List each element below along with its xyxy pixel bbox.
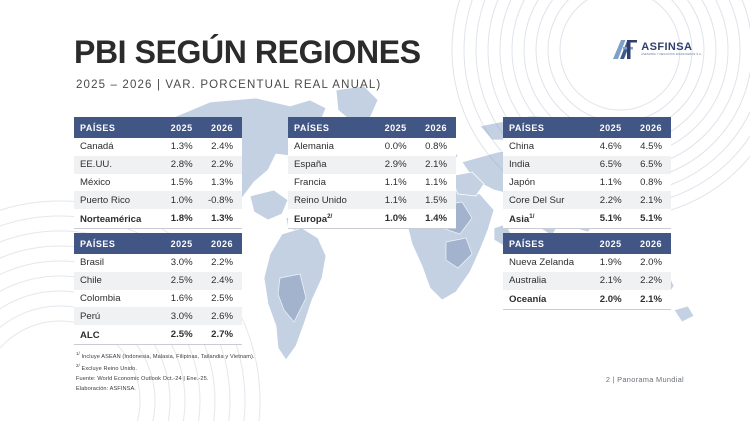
cell-2026: 2.1% bbox=[631, 191, 671, 209]
table-total-row: Asia1/ 5.1% 5.1% bbox=[503, 209, 671, 228]
page-title: PBI SEGÚN REGIONES bbox=[74, 34, 421, 71]
slide-canvas: PBI SEGÚN REGIONES 2025 – 2026 | VAR. PO… bbox=[0, 0, 750, 421]
footnote-source: Fuente: World Economic Outlook Oct.-24 |… bbox=[76, 375, 255, 385]
cell-2025: 1.1% bbox=[590, 174, 630, 192]
asfinsa-logo: ASFINSA ASESORÍA Y NEGOCIOS FINANCIEROS … bbox=[612, 38, 702, 61]
cell-2025: 2.8% bbox=[161, 156, 201, 174]
cell-country: Reino Unido bbox=[288, 191, 375, 209]
cell-country: Puerto Rico bbox=[74, 191, 161, 209]
cell-total-2025: 1.8% bbox=[161, 209, 201, 228]
cell-2025: 1.5% bbox=[161, 174, 201, 192]
cell-country: Colombia bbox=[74, 290, 161, 308]
cell-2025: 2.9% bbox=[375, 156, 415, 174]
footnotes: 1/ Incluye ASEAN (Indonesia, Malasia, Fi… bbox=[76, 350, 255, 394]
region-total-note: 1/ bbox=[529, 213, 534, 220]
cell-total-2026: 2.1% bbox=[631, 290, 671, 309]
table-row: Canadá 1.3% 2.4% bbox=[74, 138, 242, 156]
asfinsa-logo-name: ASFINSA bbox=[641, 42, 702, 53]
table-row: Alemania 0.0% 0.8% bbox=[288, 138, 456, 156]
cell-2026: 2.0% bbox=[631, 254, 671, 272]
table-row: EE.UU. 2.8% 2.2% bbox=[74, 156, 242, 174]
table-total-row: Oceanía 2.0% 2.1% bbox=[503, 290, 671, 309]
region-total-label: ALC bbox=[80, 330, 100, 341]
column-header-2025: 2025 bbox=[161, 117, 201, 138]
cell-2025: 1.0% bbox=[161, 191, 201, 209]
asfinsa-logo-text: ASFINSA ASESORÍA Y NEGOCIOS FINANCIEROS … bbox=[641, 42, 702, 57]
cell-2025: 2.2% bbox=[590, 191, 630, 209]
cell-country: EE.UU. bbox=[74, 156, 161, 174]
table-bottom-rule bbox=[288, 228, 456, 229]
cell-country: China bbox=[503, 138, 590, 156]
asfinsa-logo-mark-icon bbox=[612, 38, 638, 61]
table: PAÍSES 2025 2026 China 4.6% 4.5% India 6… bbox=[503, 117, 671, 228]
table-row: Australia 2.1% 2.2% bbox=[503, 272, 671, 290]
cell-2025: 1.3% bbox=[161, 138, 201, 156]
footnote-2-marker: 2/ bbox=[76, 363, 80, 368]
column-header-2026: 2026 bbox=[631, 233, 671, 254]
table-bottom-rule bbox=[503, 309, 671, 310]
cell-total-2026: 1.4% bbox=[416, 209, 456, 228]
cell-country: Core Del Sur bbox=[503, 191, 590, 209]
table: PAÍSES 2025 2026 Canadá 1.3% 2.4% EE.UU.… bbox=[74, 117, 242, 228]
cell-2025: 1.6% bbox=[161, 290, 201, 308]
table-header-row: PAÍSES 2025 2026 bbox=[503, 233, 671, 254]
cell-country: España bbox=[288, 156, 375, 174]
table-row: Francia 1.1% 1.1% bbox=[288, 174, 456, 192]
footnote-elaboration: Elaboración: ASFINSA. bbox=[76, 385, 255, 395]
table-bottom-rule bbox=[74, 344, 242, 345]
cell-2026: 2.4% bbox=[202, 272, 242, 290]
region-total-label: Europa bbox=[294, 214, 327, 225]
cell-2026: 2.2% bbox=[631, 272, 671, 290]
table-row: Japón 1.1% 0.8% bbox=[503, 174, 671, 192]
cell-country: India bbox=[503, 156, 590, 174]
column-header-paises: PAÍSES bbox=[74, 117, 161, 138]
column-header-2025: 2025 bbox=[590, 117, 630, 138]
cell-2026: 0.8% bbox=[416, 138, 456, 156]
footnote-1: 1/ Incluye ASEAN (Indonesia, Malasia, Fi… bbox=[76, 350, 255, 362]
column-header-paises: PAÍSES bbox=[74, 233, 161, 254]
cell-2026: 4.5% bbox=[631, 138, 671, 156]
cell-total-2025: 2.0% bbox=[590, 290, 630, 309]
cell-2025: 4.6% bbox=[590, 138, 630, 156]
column-header-2026: 2026 bbox=[416, 117, 456, 138]
cell-total-2025: 5.1% bbox=[590, 209, 630, 228]
cell-total-2026: 5.1% bbox=[631, 209, 671, 228]
table: PAÍSES 2025 2026 Nueva Zelanda 1.9% 2.0%… bbox=[503, 233, 671, 309]
cell-total-2025: 2.5% bbox=[161, 325, 201, 344]
table-row: Chile 2.5% 2.4% bbox=[74, 272, 242, 290]
cell-region-total: Europa2/ bbox=[288, 209, 375, 228]
cell-country: Australia bbox=[503, 272, 590, 290]
cell-country: México bbox=[74, 174, 161, 192]
cell-country: Canadá bbox=[74, 138, 161, 156]
column-header-paises: PAÍSES bbox=[503, 117, 590, 138]
cell-country: Chile bbox=[74, 272, 161, 290]
table-oceania: PAÍSES 2025 2026 Nueva Zelanda 1.9% 2.0%… bbox=[503, 233, 671, 310]
footnote-2-text: Excluye Reino Unido. bbox=[82, 366, 137, 372]
cell-2026: 0.8% bbox=[631, 174, 671, 192]
table-header-row: PAÍSES 2025 2026 bbox=[74, 117, 242, 138]
column-header-2025: 2025 bbox=[161, 233, 201, 254]
cell-country: Francia bbox=[288, 174, 375, 192]
cell-2026: 2.2% bbox=[202, 254, 242, 272]
cell-2026: 2.1% bbox=[416, 156, 456, 174]
table: PAÍSES 2025 2026 Alemania 0.0% 0.8% Espa… bbox=[288, 117, 456, 228]
table-row: Brasil 3.0% 2.2% bbox=[74, 254, 242, 272]
table-row: Core Del Sur 2.2% 2.1% bbox=[503, 191, 671, 209]
cell-2026: 1.1% bbox=[416, 174, 456, 192]
table-header-row: PAÍSES 2025 2026 bbox=[288, 117, 456, 138]
region-total-label: Oceanía bbox=[509, 294, 546, 305]
cell-2026: 1.3% bbox=[202, 174, 242, 192]
cell-2025: 0.0% bbox=[375, 138, 415, 156]
asfinsa-logo-tagline: ASESORÍA Y NEGOCIOS FINANCIEROS S.A. bbox=[641, 54, 702, 57]
cell-2025: 1.1% bbox=[375, 191, 415, 209]
table: PAÍSES 2025 2026 Brasil 3.0% 2.2% Chile … bbox=[74, 233, 242, 344]
table-row: India 6.5% 6.5% bbox=[503, 156, 671, 174]
column-header-paises: PAÍSES bbox=[503, 233, 590, 254]
cell-2025: 2.1% bbox=[590, 272, 630, 290]
cell-region-total: ALC bbox=[74, 325, 161, 344]
cell-2026: 1.5% bbox=[416, 191, 456, 209]
column-header-2026: 2026 bbox=[202, 233, 242, 254]
cell-2026: 2.5% bbox=[202, 290, 242, 308]
cell-country: Brasil bbox=[74, 254, 161, 272]
cell-2026: -0.8% bbox=[202, 191, 242, 209]
table-bottom-rule bbox=[503, 228, 671, 229]
region-total-note: 2/ bbox=[327, 213, 332, 220]
cell-2025: 1.9% bbox=[590, 254, 630, 272]
table-header-row: PAÍSES 2025 2026 bbox=[74, 233, 242, 254]
cell-2025: 1.1% bbox=[375, 174, 415, 192]
cell-2026: 2.4% bbox=[202, 138, 242, 156]
cell-region-total: Asia1/ bbox=[503, 209, 590, 228]
footnote-1-marker: 1/ bbox=[76, 351, 80, 356]
table-row: Colombia 1.6% 2.5% bbox=[74, 290, 242, 308]
cell-country: Alemania bbox=[288, 138, 375, 156]
cell-total-2026: 2.7% bbox=[202, 325, 242, 344]
column-header-2025: 2025 bbox=[375, 117, 415, 138]
table-header-row: PAÍSES 2025 2026 bbox=[503, 117, 671, 138]
table-row: México 1.5% 1.3% bbox=[74, 174, 242, 192]
table-row: Puerto Rico 1.0% -0.8% bbox=[74, 191, 242, 209]
page-footer: 2 | Panorama Mundial bbox=[606, 375, 684, 384]
footnote-1-text: Incluye ASEAN (Indonesia, Malasia, Filip… bbox=[82, 354, 255, 360]
cell-2026: 2.6% bbox=[202, 307, 242, 325]
table-europa: PAÍSES 2025 2026 Alemania 0.0% 0.8% Espa… bbox=[288, 117, 456, 229]
table-total-row: Norteamérica 1.8% 1.3% bbox=[74, 209, 242, 228]
cell-region-total: Oceanía bbox=[503, 290, 590, 309]
cell-2025: 3.0% bbox=[161, 307, 201, 325]
region-total-label: Norteamérica bbox=[80, 214, 141, 225]
cell-region-total: Norteamérica bbox=[74, 209, 161, 228]
cell-total-2025: 1.0% bbox=[375, 209, 415, 228]
column-header-2026: 2026 bbox=[631, 117, 671, 138]
cell-2025: 2.5% bbox=[161, 272, 201, 290]
cell-2026: 2.2% bbox=[202, 156, 242, 174]
column-header-2026: 2026 bbox=[202, 117, 242, 138]
cell-country: Perú bbox=[74, 307, 161, 325]
cell-country: Nueva Zelanda bbox=[503, 254, 590, 272]
column-header-2025: 2025 bbox=[590, 233, 630, 254]
table-row: Reino Unido 1.1% 1.5% bbox=[288, 191, 456, 209]
table-total-row: Europa2/ 1.0% 1.4% bbox=[288, 209, 456, 228]
table-asia: PAÍSES 2025 2026 China 4.6% 4.5% India 6… bbox=[503, 117, 671, 229]
cell-2026: 6.5% bbox=[631, 156, 671, 174]
table-bottom-rule bbox=[74, 228, 242, 229]
footnote-2: 2/ Excluye Reino Unido. bbox=[76, 362, 255, 374]
table-row: Perú 3.0% 2.6% bbox=[74, 307, 242, 325]
table-total-row: ALC 2.5% 2.7% bbox=[74, 325, 242, 344]
cell-2025: 3.0% bbox=[161, 254, 201, 272]
cell-total-2026: 1.3% bbox=[202, 209, 242, 228]
column-header-paises: PAÍSES bbox=[288, 117, 375, 138]
cell-2025: 6.5% bbox=[590, 156, 630, 174]
table-row: España 2.9% 2.1% bbox=[288, 156, 456, 174]
table-norteamerica: PAÍSES 2025 2026 Canadá 1.3% 2.4% EE.UU.… bbox=[74, 117, 242, 229]
region-total-label: Asia bbox=[509, 214, 529, 225]
table-alc: PAÍSES 2025 2026 Brasil 3.0% 2.2% Chile … bbox=[74, 233, 242, 345]
table-row: China 4.6% 4.5% bbox=[503, 138, 671, 156]
cell-country: Japón bbox=[503, 174, 590, 192]
table-row: Nueva Zelanda 1.9% 2.0% bbox=[503, 254, 671, 272]
page-subtitle: 2025 – 2026 | VAR. PORCENTUAL REAL ANUAL… bbox=[76, 79, 381, 91]
